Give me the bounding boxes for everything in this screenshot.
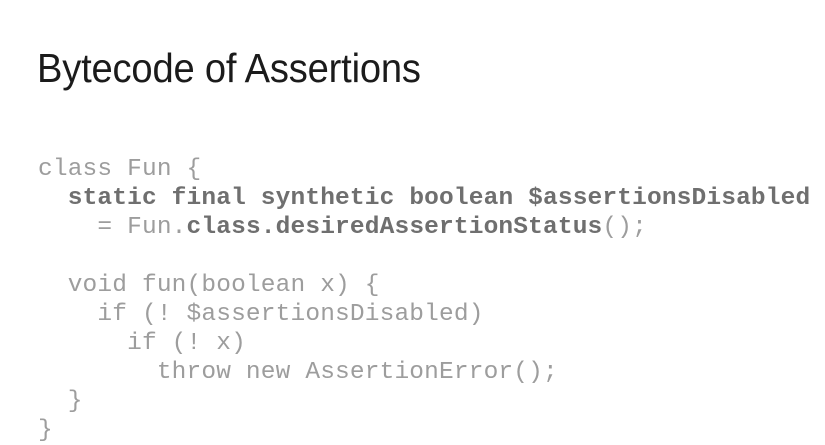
- code-token: class Fun {: [38, 156, 201, 183]
- code-token: void fun(boolean x) {: [38, 272, 380, 299]
- code-token: }: [38, 388, 83, 415]
- code-line: if (! x): [38, 329, 808, 358]
- code-token: if (! $assertionsDisabled): [38, 301, 484, 328]
- code-token: }: [38, 417, 53, 444]
- code-line: }: [38, 416, 808, 445]
- code-token: throw new AssertionError();: [38, 359, 558, 386]
- code-token: = Fun.: [38, 214, 187, 241]
- code-line: }: [38, 387, 808, 416]
- code-line: void fun(boolean x) {: [38, 271, 808, 300]
- code-token: if (! x): [38, 330, 246, 357]
- code-line: [38, 242, 808, 271]
- code-line: throw new AssertionError();: [38, 358, 808, 387]
- code-line: if (! $assertionsDisabled): [38, 300, 808, 329]
- slide-root: Bytecode of Assertions class Fun { stati…: [0, 0, 825, 431]
- code-token: class.desiredAssertionStatus: [187, 214, 603, 241]
- code-line: class Fun {: [38, 155, 808, 184]
- code-token: static final synthetic boolean $assertio…: [68, 185, 811, 212]
- code-line: static final synthetic boolean $assertio…: [38, 184, 808, 213]
- code-token: [38, 185, 68, 212]
- code-token: ();: [602, 214, 647, 241]
- page-title: Bytecode of Assertions: [37, 44, 421, 92]
- code-line: = Fun.class.desiredAssertionStatus();: [38, 213, 808, 242]
- code-block: class Fun { static final synthetic boole…: [38, 155, 808, 445]
